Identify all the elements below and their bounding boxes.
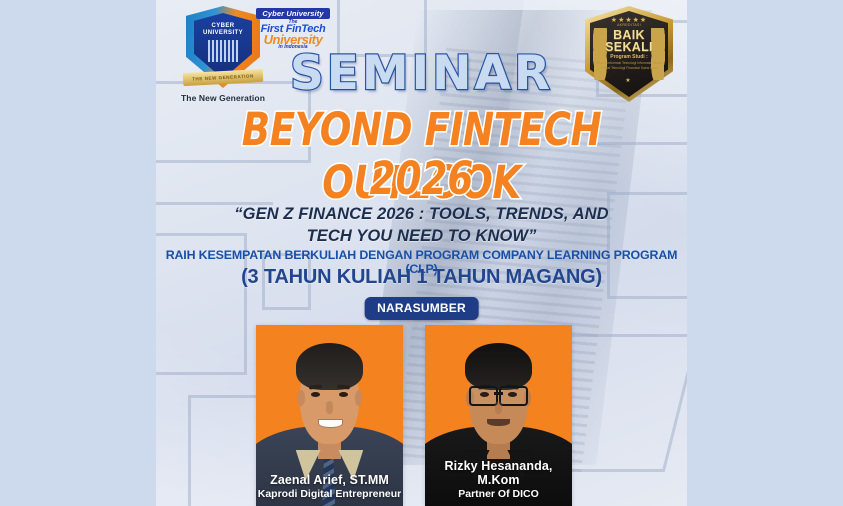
speaker-1-name: Zaenal Arief, ST.MM <box>256 473 403 487</box>
brow-left <box>309 384 323 389</box>
fintech-badge-line-1: Cyber University <box>256 8 330 19</box>
seminar-label: SEMINAR <box>156 46 687 101</box>
eye-right <box>508 392 517 397</box>
eye-right <box>339 392 348 397</box>
hair-shape <box>465 343 533 390</box>
speaker-card-2: Rizky Hesananda, M.Kom Partner Of DICO <box>425 325 572 506</box>
eye-left <box>480 392 489 397</box>
seminar-poster: CYBER UNIVERSITY THE NEW GENERATION The … <box>156 0 687 506</box>
award-accreditation-label: AKREDITASI <box>585 23 673 27</box>
eye-left <box>311 392 320 397</box>
narasumber-badge: NARASUMBER <box>364 297 479 320</box>
brow-right <box>337 384 351 389</box>
magang-duration-text: (3 TAHUN KULIAH 1 TAHUN MAGANG) <box>156 266 687 289</box>
ear-right <box>355 390 362 406</box>
quote-line-1: “GEN Z FINANCE 2026 : TOOLS, TRENDS, AND <box>176 203 667 225</box>
nose-shape <box>326 401 333 414</box>
speaker-1-caption: Zaenal Arief, ST.MM Kaprodi Digital Entr… <box>256 473 403 500</box>
glasses-bridge <box>494 392 503 394</box>
shield-text: CYBER UNIVERSITY <box>186 23 260 37</box>
speaker-card-1: Zaenal Arief, ST.MM Kaprodi Digital Entr… <box>256 325 403 506</box>
speaker-1-role: Kaprodi Digital Entrepreneur <box>256 488 403 500</box>
speaker-2-role: Partner Of DICO <box>425 488 572 500</box>
hair-shape <box>296 343 364 390</box>
quote-line-2: TECH YOU NEED TO KNOW” <box>176 225 667 247</box>
speaker-2-caption: Rizky Hesananda, M.Kom Partner Of DICO <box>425 459 572 500</box>
eyeglasses-icon <box>469 386 528 402</box>
headline-line-2: 2026 <box>177 152 666 205</box>
first-fintech-university-badge: Cyber University The First FinTech Unive… <box>256 8 330 50</box>
nose-shape <box>495 401 502 414</box>
speaker-2-name: Rizky Hesananda, M.Kom <box>425 459 572 487</box>
seminar-quote: “GEN Z FINANCE 2026 : TOOLS, TRENDS, AND… <box>176 203 667 247</box>
ear-left <box>297 390 304 406</box>
